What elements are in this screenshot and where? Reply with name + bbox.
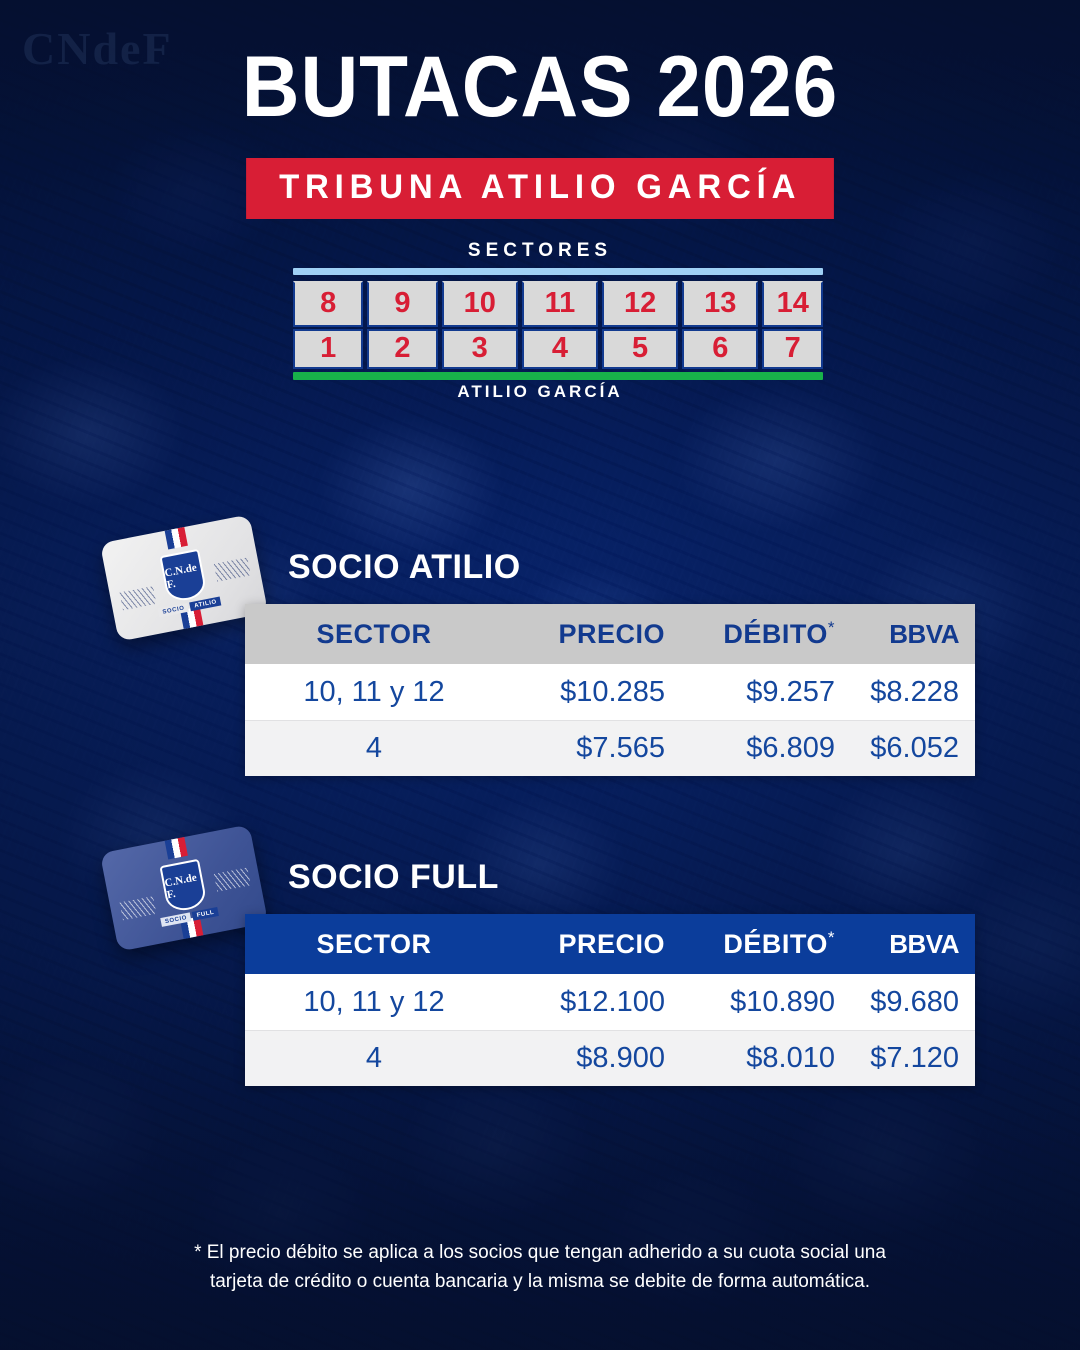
debito-asterisk: *: [828, 928, 835, 947]
table-row: 10, 11 y 12 $10.285 $9.257 $8.228: [245, 664, 975, 720]
bbva-logo-icon: BBVA: [889, 619, 959, 650]
card-tag-right: FULL: [192, 907, 219, 921]
column-header-sector: SECTOR: [245, 929, 495, 960]
pitch-line-top: [293, 268, 823, 275]
sector-cell-10: 10: [442, 281, 518, 327]
column-header-bbva: BBVA: [835, 929, 975, 960]
club-shield-icon: C.N.de F.: [159, 549, 207, 604]
card-signature-right-icon: [214, 558, 251, 582]
cell-bbva: $6.052: [835, 732, 975, 765]
sectors-heading: SECTORES: [0, 240, 1080, 262]
cell-sector: 10, 11 y 12: [245, 986, 495, 1019]
cell-bbva: $7.120: [835, 1042, 975, 1075]
sector-cell-4: 4: [522, 329, 598, 369]
cell-sector: 4: [245, 1042, 495, 1075]
card-signature-left-icon: [120, 586, 157, 610]
cell-bbva: $9.680: [835, 986, 975, 1019]
footnote-line-2: tarjeta de crédito o cuenta bancaria y l…: [170, 1267, 910, 1296]
cell-debito: $10.890: [665, 986, 835, 1019]
socio-full-heading: SOCIO FULL: [288, 858, 499, 897]
footnote-line-1: * El precio débito se aplica a los socio…: [170, 1238, 910, 1267]
card-tag-right: ATILIO: [190, 597, 222, 612]
page-title: BUTACAS 2026: [38, 38, 1042, 137]
shield-initials: C.N.de F.: [164, 561, 204, 591]
column-header-sector: SECTOR: [245, 619, 495, 650]
table-row: 4 $7.565 $6.809 $6.052: [245, 720, 975, 776]
card-stripe-top-icon: [164, 836, 187, 859]
sector-cell-9: 9: [367, 281, 437, 327]
sectors-lower-row: 1234567: [293, 329, 823, 369]
cell-debito: $8.010: [665, 1042, 835, 1075]
cell-precio: $12.100: [495, 986, 665, 1019]
subtitle-container: TRIBUNA ATILIO GARCÍA: [0, 158, 1080, 219]
sectors-upper-row: 891011121314: [293, 281, 823, 327]
club-shield-icon: C.N.de F.: [159, 859, 207, 914]
sector-cell-2: 2: [367, 329, 437, 369]
table-header-row: SECTOR PRECIO DÉBITO* BBVA: [245, 914, 975, 974]
sector-cell-5: 5: [602, 329, 678, 369]
cell-sector: 10, 11 y 12: [245, 676, 495, 709]
cell-bbva: $8.228: [835, 676, 975, 709]
sector-cell-12: 12: [602, 281, 678, 327]
cell-precio: $7.565: [495, 732, 665, 765]
cell-sector: 4: [245, 732, 495, 765]
sector-cell-3: 3: [442, 329, 518, 369]
column-header-precio: PRECIO: [495, 619, 665, 650]
bbva-logo-icon: BBVA: [889, 929, 959, 960]
card-signature-right-icon: [214, 868, 251, 892]
table-row: 4 $8.900 $8.010 $7.120: [245, 1030, 975, 1086]
column-header-bbva: BBVA: [835, 619, 975, 650]
stand-name-badge: TRIBUNA ATILIO GARCÍA: [246, 158, 834, 219]
socio-full-card: C.N.de F. SOCIO FULL: [100, 824, 268, 951]
shield-initials: C.N.de F.: [164, 871, 204, 901]
card-signature-left-icon: [120, 896, 157, 920]
stand-label: ATILIO GARCÍA: [0, 382, 1080, 402]
cell-precio: $8.900: [495, 1042, 665, 1075]
socio-atilio-heading: SOCIO ATILIO: [288, 548, 521, 587]
socio-full-table: SECTOR PRECIO DÉBITO* BBVA 10, 11 y 12 $…: [245, 914, 975, 1086]
table-row: 10, 11 y 12 $12.100 $10.890 $9.680: [245, 974, 975, 1030]
sector-cell-6: 6: [682, 329, 758, 369]
pitch-line-bottom: [293, 372, 823, 380]
cell-debito: $6.809: [665, 732, 835, 765]
sector-cell-1: 1: [293, 329, 363, 369]
column-header-debito: DÉBITO*: [665, 928, 835, 960]
sector-cell-11: 11: [522, 281, 598, 327]
sector-cell-7: 7: [762, 329, 823, 369]
sector-cell-14: 14: [762, 281, 823, 327]
socio-atilio-card: C.N.de F. SOCIO ATILIO: [100, 514, 268, 641]
debito-asterisk: *: [828, 618, 835, 637]
footnote-disclaimer: * El precio débito se aplica a los socio…: [0, 1238, 1080, 1297]
sector-cell-8: 8: [293, 281, 363, 327]
sector-cell-13: 13: [682, 281, 758, 327]
sectors-diagram: 891011121314 1234567: [293, 268, 823, 380]
socio-atilio-table: SECTOR PRECIO DÉBITO* BBVA 10, 11 y 12 $…: [245, 604, 975, 776]
column-header-precio: PRECIO: [495, 929, 665, 960]
column-header-debito: DÉBITO*: [665, 618, 835, 650]
card-stripe-top-icon: [164, 526, 187, 549]
table-header-row: SECTOR PRECIO DÉBITO* BBVA: [245, 604, 975, 664]
poster-content: CNdeF BUTACAS 2026 TRIBUNA ATILIO GARCÍA…: [0, 0, 1080, 1350]
cell-debito: $9.257: [665, 676, 835, 709]
cell-precio: $10.285: [495, 676, 665, 709]
